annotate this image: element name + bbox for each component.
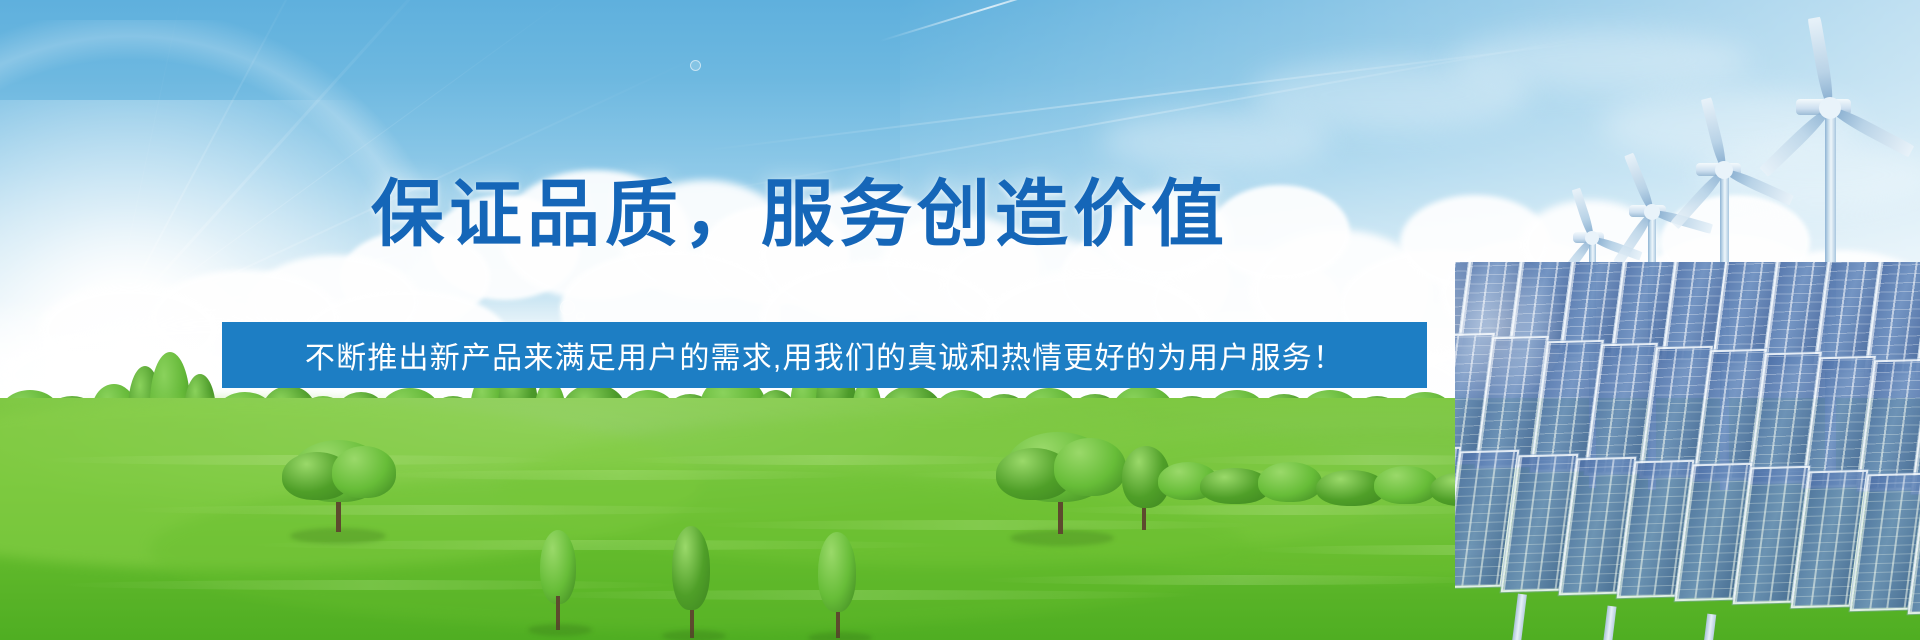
solar-panel-leg [1602, 606, 1616, 640]
page-title: 保证品质，服务创造价值 [0, 178, 1600, 251]
subtitle-text: 不断推出新产品来满足用户的需求,用我们的真诚和热情更好的为用户服务！ [305, 333, 1344, 377]
turbine-hub [1819, 97, 1841, 119]
solar-panel-leg [1703, 614, 1717, 640]
promo-banner: 保证品质，服务创造价值 不断推出新产品来满足用户的需求,用我们的真诚和热情更好的… [0, 0, 1920, 640]
solar-panel-array [1455, 262, 1920, 640]
subtitle-bar: 不断推出新产品来满足用户的需求,用我们的真诚和热情更好的为用户服务！ [222, 322, 1427, 388]
solar-panel-leg [1512, 594, 1527, 640]
turbine-blade [1808, 16, 1837, 109]
